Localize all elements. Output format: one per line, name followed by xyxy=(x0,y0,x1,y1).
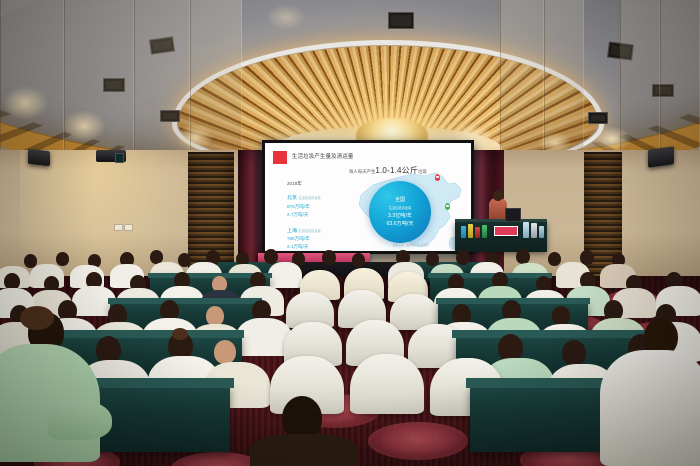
chair xyxy=(350,354,424,414)
audience-head xyxy=(214,340,236,364)
audience-head xyxy=(516,249,530,264)
product-bottle xyxy=(531,223,537,238)
foreground-arm xyxy=(48,400,112,440)
city-0-name: 北京 xyxy=(287,195,297,201)
slide: 生活垃圾产生量及清运量 每人每天产生1.0-1.4公斤垃圾 2018年 北京 生… xyxy=(265,143,471,251)
audience-torso xyxy=(268,262,302,288)
audience-head xyxy=(548,252,561,266)
table-top xyxy=(428,273,552,278)
wall-panel xyxy=(190,0,242,150)
wall-panel xyxy=(544,0,584,150)
presenter-head xyxy=(493,190,503,201)
city-0-daily: 2.7万吨/天 xyxy=(287,212,345,218)
wall-speaker-left xyxy=(28,149,50,166)
slide-city-name: 北京 生活垃圾清运量 xyxy=(287,194,345,201)
city-1-note: 生活垃圾清运量 xyxy=(298,229,320,233)
hair-bun xyxy=(20,306,54,330)
foreground-torso xyxy=(250,434,358,466)
ceiling-projector xyxy=(96,150,126,162)
map-credit: 数据来源：国家统计局 / 住建部 xyxy=(393,243,429,247)
wall-panel xyxy=(620,0,660,150)
map-pin-shanghai-icon xyxy=(445,203,450,210)
spotlight-glow xyxy=(266,4,306,30)
product-bottle xyxy=(468,224,473,238)
light-switch-plate xyxy=(124,224,133,231)
presenter-monitor xyxy=(505,208,521,222)
bubble-metric: 生活垃圾清运量 xyxy=(389,205,411,210)
audience-head xyxy=(206,306,224,326)
slide-title: 生活垃圾产生量及清运量 xyxy=(292,152,354,160)
bubble-daily: 63.6万吨/天 xyxy=(386,221,413,229)
table-top xyxy=(452,330,648,338)
foreground-torso xyxy=(600,350,700,466)
table-top xyxy=(108,298,262,304)
slide-city-name: 上海 生活垃圾清运量 xyxy=(287,227,345,234)
map-pin-beijing-icon xyxy=(435,174,440,181)
wall-panel xyxy=(0,0,64,150)
product-bottle xyxy=(523,222,529,238)
wall-panel xyxy=(134,0,190,150)
city-0-note: 生活垃圾清运量 xyxy=(298,196,320,200)
audience-head xyxy=(178,253,191,267)
audience-head xyxy=(56,252,69,266)
bubble-annual: 3.3亿吨/年 xyxy=(388,213,412,221)
slide-left-column: 2018年 北京 生活垃圾清运量 875万吨/年 2.7万吨/天 上海 生活垃圾… xyxy=(287,181,345,251)
city-1-annual: 786万吨/年 xyxy=(287,236,345,242)
audience-head xyxy=(426,252,439,266)
product-bottle xyxy=(475,227,480,238)
ceiling-spotlight xyxy=(388,12,414,29)
wall-speaker-right xyxy=(648,146,674,168)
wall-panel xyxy=(64,0,134,150)
audience-head xyxy=(456,250,470,265)
product-bottle xyxy=(482,225,487,238)
slide-logo-icon xyxy=(273,151,287,164)
audience-head xyxy=(322,250,336,265)
city-1-name: 上海 xyxy=(287,228,297,234)
audience-head xyxy=(264,249,278,264)
national-stat-bubble: 全国 生活垃圾清运量 3.3亿吨/年 63.6万吨/天 xyxy=(369,181,431,243)
slide-year: 2018年 xyxy=(287,181,345,187)
wall-panel xyxy=(660,0,700,150)
table-top xyxy=(48,330,244,338)
audience-head xyxy=(352,253,365,267)
city-1-daily: 2.1万吨/天 xyxy=(287,244,345,250)
product-bottle xyxy=(461,226,466,238)
conference-room-photo: 生活垃圾产生量及清运量 每人每天产生1.0-1.4公斤垃圾 2018年 北京 生… xyxy=(0,0,700,466)
table-sign xyxy=(494,226,518,236)
product-bottle xyxy=(539,226,544,238)
audience-head xyxy=(552,306,570,326)
audience-head xyxy=(562,340,586,366)
light-switch-plate xyxy=(114,224,123,231)
bubble-region: 全国 xyxy=(395,196,405,203)
hair-bun xyxy=(172,328,188,340)
ceiling-spotlight xyxy=(588,112,608,124)
projection-screen: 生活垃圾产生量及清运量 每人每天产生1.0-1.4公斤垃圾 2018年 北京 生… xyxy=(262,140,474,254)
wall-panel xyxy=(500,0,544,150)
city-0-annual: 875万吨/年 xyxy=(287,204,345,210)
